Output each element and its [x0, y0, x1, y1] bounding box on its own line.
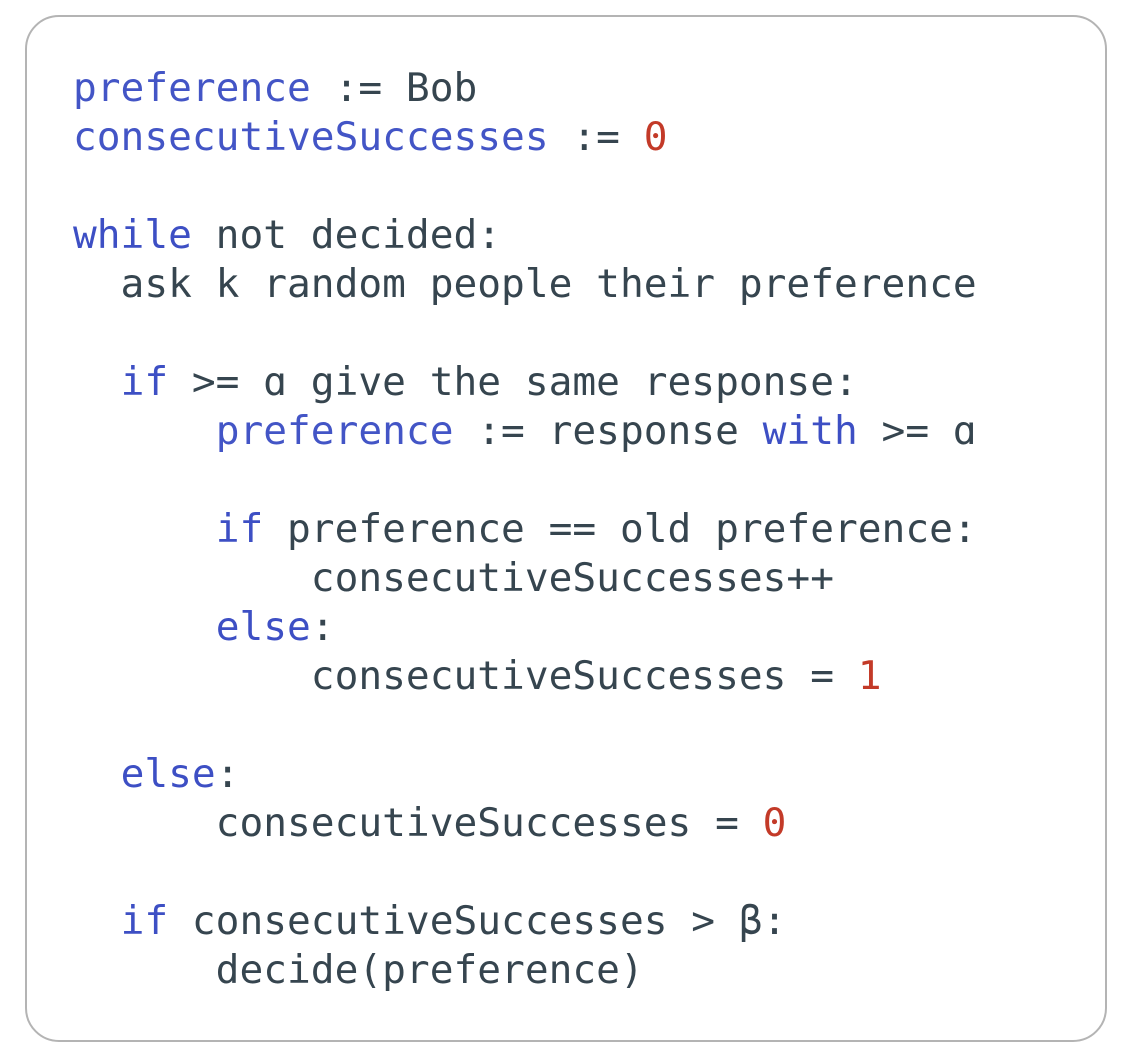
code-line: preference := response with >= ɑ [73, 407, 977, 456]
code-line [73, 701, 977, 750]
code-line: ask k random people their preference [73, 260, 977, 309]
code-token-num: 1 [858, 653, 882, 699]
code-token-txt [73, 604, 216, 650]
code-line: decide(preference) [73, 946, 977, 995]
code-token-txt: := [549, 114, 644, 160]
code-line [73, 456, 977, 505]
code-token-txt [73, 898, 121, 944]
code-token-num: 0 [644, 114, 668, 160]
code-token-num: 0 [763, 800, 787, 846]
code-token-txt: consecutiveSuccesses = [73, 800, 763, 846]
code-line: if >= ɑ give the same response: [73, 358, 977, 407]
code-token-txt [73, 408, 216, 454]
code-line [73, 162, 977, 211]
code-token-kw: if [121, 898, 169, 944]
code-token-txt: := Bob [311, 65, 477, 111]
code-token-txt: consecutiveSuccesses++ [73, 555, 834, 601]
code-token-txt [73, 506, 216, 552]
code-line: consecutiveSuccesses = 0 [73, 799, 977, 848]
code-token-txt: : [311, 604, 335, 650]
code-token-var: preference [216, 408, 454, 454]
code-line: consecutiveSuccesses++ [73, 554, 977, 603]
code-token-var: preference [73, 65, 311, 111]
code-line [73, 848, 977, 897]
code-line: consecutiveSuccesses := 0 [73, 113, 977, 162]
code-token-txt [73, 359, 121, 405]
code-line: if consecutiveSuccesses > β: [73, 897, 977, 946]
code-token-kw: while [73, 212, 192, 258]
code-token-txt: := response [454, 408, 763, 454]
pseudocode-card: preference := BobconsecutiveSuccesses :=… [25, 15, 1107, 1042]
code-token-txt: ask k random people their preference [73, 261, 977, 307]
code-token-txt: consecutiveSuccesses > β: [168, 898, 786, 944]
code-token-txt [73, 751, 121, 797]
code-token-txt: preference == old preference: [263, 506, 976, 552]
code-token-var: consecutiveSuccesses [73, 114, 549, 160]
code-line: consecutiveSuccesses = 1 [73, 652, 977, 701]
code-line: preference := Bob [73, 64, 977, 113]
code-line: else: [73, 750, 977, 799]
code-token-kw: if [121, 359, 169, 405]
code-token-kw: else [121, 751, 216, 797]
code-token-txt: : [216, 751, 240, 797]
code-token-kw: if [216, 506, 264, 552]
code-line: while not decided: [73, 211, 977, 260]
code-line: else: [73, 603, 977, 652]
code-token-kw: else [216, 604, 311, 650]
code-token-txt: >= ɑ give the same response: [168, 359, 858, 405]
code-token-txt: not decided: [192, 212, 501, 258]
code-token-txt: >= ɑ [858, 408, 977, 454]
code-token-txt: decide(preference) [73, 947, 644, 993]
code-block[interactable]: preference := BobconsecutiveSuccesses :=… [73, 64, 977, 995]
code-line [73, 309, 977, 358]
code-token-txt: consecutiveSuccesses = [73, 653, 858, 699]
code-token-kw: with [763, 408, 858, 454]
code-line: if preference == old preference: [73, 505, 977, 554]
